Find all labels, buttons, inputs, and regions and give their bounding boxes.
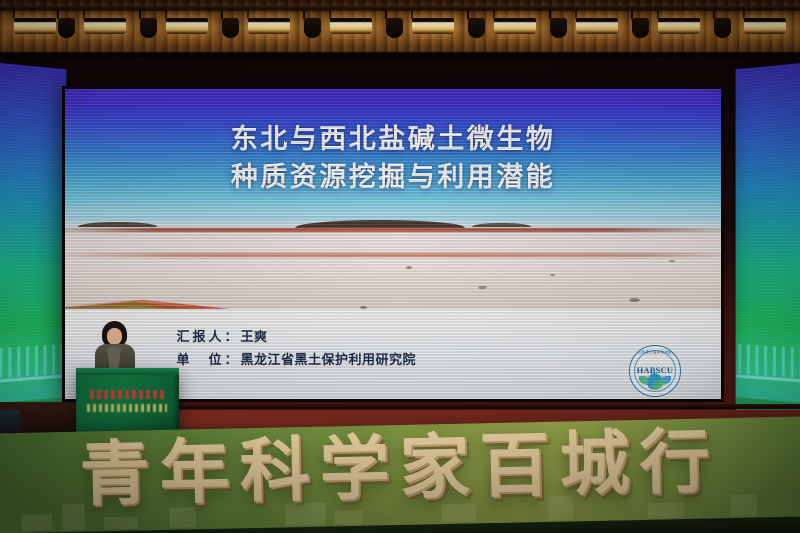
ground-speck — [550, 274, 555, 276]
presentation-slide: 东北与西北盐碱土微生物 种质资源挖掘与利用潜能 汇报人：王爽 单 位：黑龙江省黑… — [65, 89, 721, 399]
presenter-row: 汇报人：王爽 — [177, 326, 417, 349]
skyline-block — [442, 503, 476, 522]
skyline-block — [335, 510, 363, 525]
ground-speck — [669, 260, 675, 262]
slide-title-line-1: 东北与西北盐碱土微生物 — [65, 120, 721, 158]
stage-backdrop: 东北与西北盐碱土微生物 种质资源挖掘与利用潜能 汇报人：王爽 单 位：黑龙江省黑… — [0, 58, 800, 433]
main-led-screen: 东北与西北盐碱土微生物 种质资源挖掘与利用潜能 汇报人：王爽 单 位：黑龙江省黑… — [62, 86, 724, 402]
side-led-panel-left — [0, 63, 66, 420]
stage-photo-scene: 东北与西北盐碱土微生物 种质资源挖掘与利用潜能 汇报人：王爽 单 位：黑龙江省黑… — [0, 0, 800, 533]
distant-hill — [78, 222, 157, 227]
presenter-label: 汇报人： — [177, 329, 241, 344]
affiliation-label: 单 位： — [177, 352, 241, 367]
institute-logo: 黑龙江省黑土保护利用研究院 HABSCU — [623, 345, 685, 395]
ground-speck — [478, 286, 487, 289]
truss-bar — [0, 6, 800, 10]
side-led-panel-right — [736, 63, 800, 420]
skyline-block — [730, 495, 756, 517]
overhead-lighting-truss — [0, 0, 800, 62]
slide-info-text: 汇报人：王爽 单 位：黑龙江省黑土保护利用研究院 — [177, 326, 417, 372]
slide-title: 东北与西北盐碱土微生物 种质资源挖掘与利用潜能 — [65, 120, 721, 197]
ground-speck — [629, 298, 640, 302]
affiliation-row: 单 位：黑龙江省黑土保护利用研究院 — [177, 349, 417, 372]
skyline-block — [648, 502, 684, 518]
affiliation-name: 黑龙江省黑土保护利用研究院 — [241, 352, 417, 367]
podium-primary-text — [90, 390, 164, 399]
presenter-face — [107, 328, 122, 345]
skyline-block — [104, 516, 138, 529]
led-scanline-texture — [736, 63, 800, 420]
distant-hill — [472, 223, 531, 227]
institute-logo-ring: 黑龙江省黑土保护利用研究院 HABSCU — [629, 345, 681, 397]
banner-title-text: 青年科学家百城行 — [0, 424, 800, 511]
salt-crust-band — [65, 253, 721, 258]
slide-title-line-2: 种质资源挖掘与利用潜能 — [65, 158, 721, 196]
salt-crust-band — [65, 228, 721, 232]
ground-speck — [406, 266, 412, 269]
foreground-event-banner: 青年科学家百城行 — [0, 416, 800, 533]
podium-top-surface — [76, 368, 179, 375]
presenter-name: 王爽 — [241, 329, 268, 344]
led-scanline-texture — [0, 63, 66, 420]
skyline-block — [22, 514, 52, 531]
institute-logo-arc-text: 黑龙江省黑土保护利用研究院 — [630, 349, 680, 355]
podium-secondary-text — [87, 404, 167, 412]
